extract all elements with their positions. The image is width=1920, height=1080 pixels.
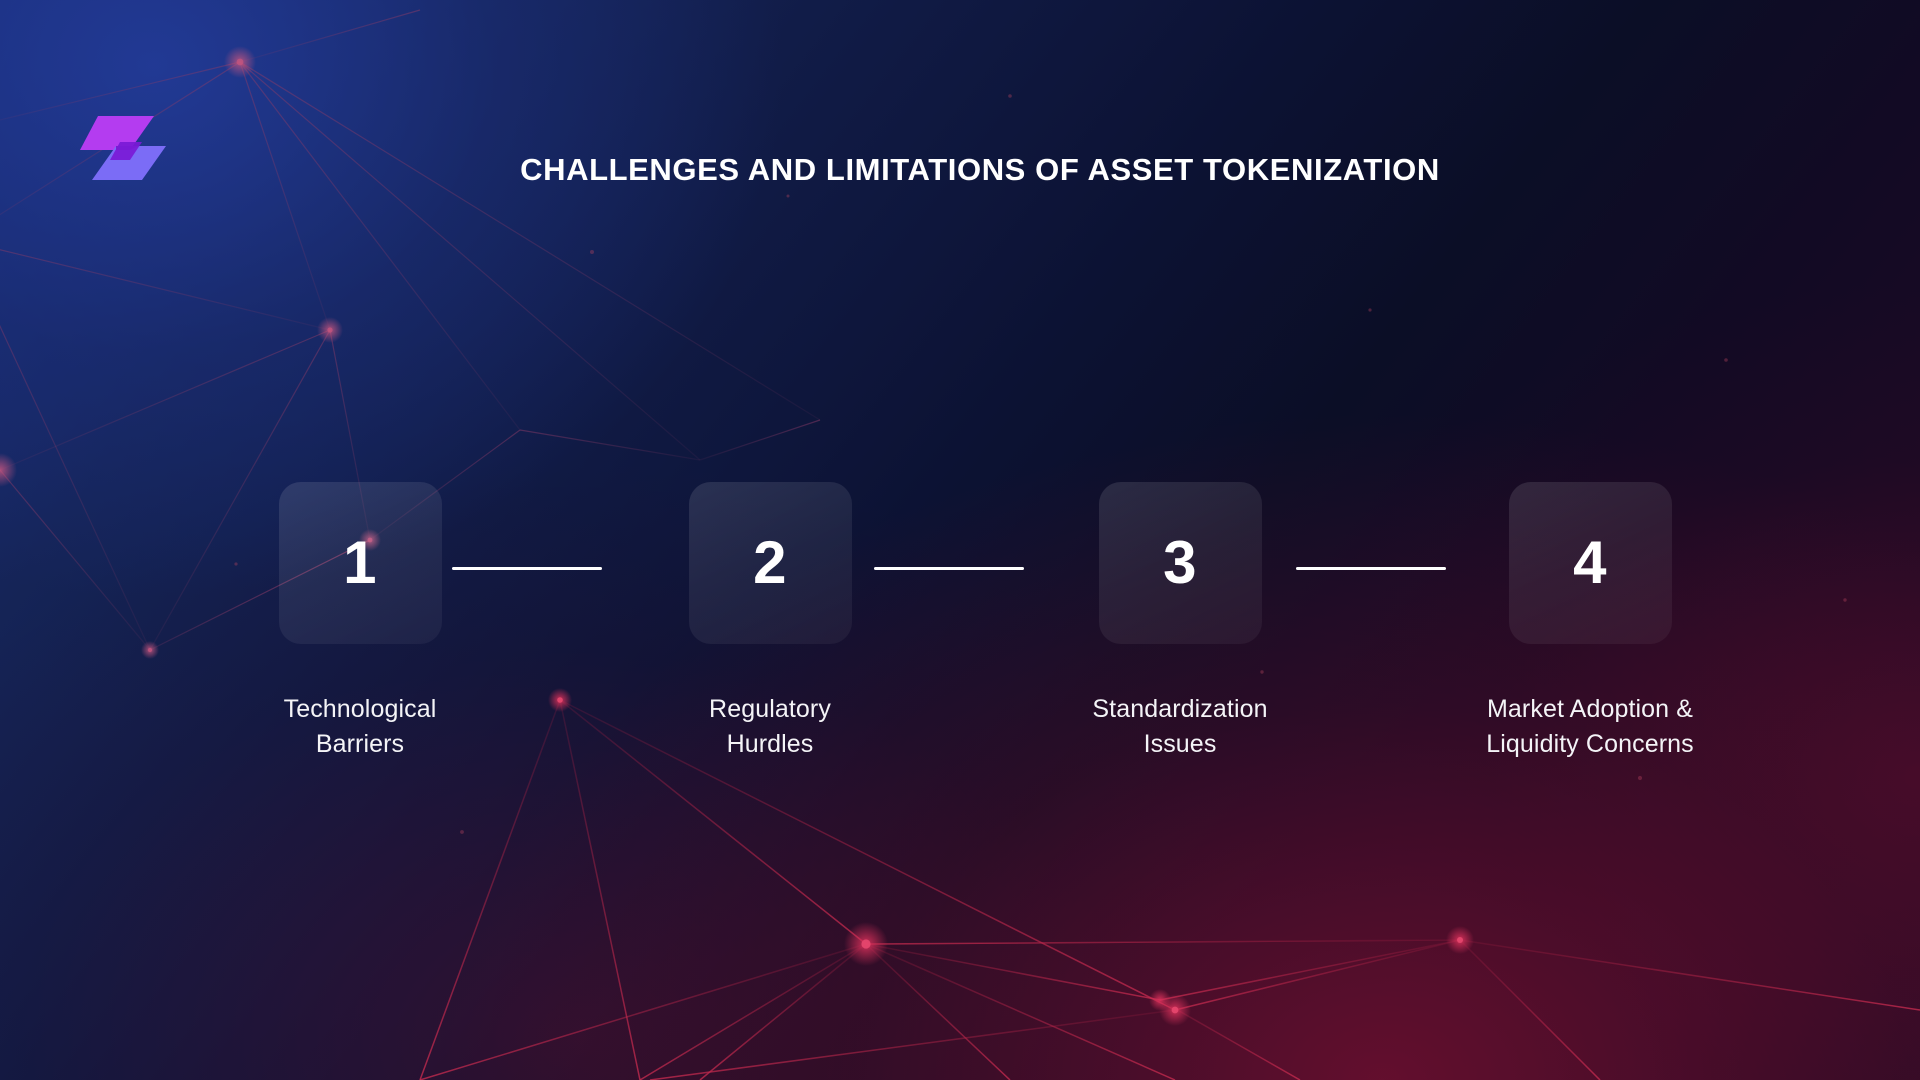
step-item-2[interactable]: 2 Regulatory Hurdles — [620, 482, 920, 761]
step-number-card-3[interactable]: 3 — [1099, 482, 1262, 644]
step-number-card-2[interactable]: 2 — [689, 482, 852, 644]
brand-logo-icon — [80, 116, 166, 180]
step-label-3: Standardization Issues — [1092, 692, 1267, 761]
step-item-3[interactable]: 3 Standardization Issues — [1030, 482, 1330, 761]
step-item-4[interactable]: 4 Market Adoption & Liquidity Concerns — [1440, 482, 1740, 761]
step-number-2: 2 — [753, 533, 787, 593]
steps-row: 1 Technological Barriers 2 Regulatory Hu… — [210, 482, 1740, 761]
page-title: CHALLENGES AND LIMITATIONS OF ASSET TOKE… — [360, 152, 1600, 188]
step-number-card-1[interactable]: 1 — [279, 482, 442, 644]
step-number-card-4[interactable]: 4 — [1509, 482, 1672, 644]
slide-canvas: CHALLENGES AND LIMITATIONS OF ASSET TOKE… — [0, 0, 1920, 1080]
step-number-3: 3 — [1163, 533, 1197, 593]
step-label-1: Technological Barriers — [284, 692, 437, 761]
step-number-1: 1 — [343, 533, 377, 593]
step-number-4: 4 — [1573, 533, 1607, 593]
step-label-4: Market Adoption & Liquidity Concerns — [1486, 692, 1693, 761]
step-label-2: Regulatory Hurdles — [709, 692, 831, 761]
step-item-1[interactable]: 1 Technological Barriers — [210, 482, 510, 761]
